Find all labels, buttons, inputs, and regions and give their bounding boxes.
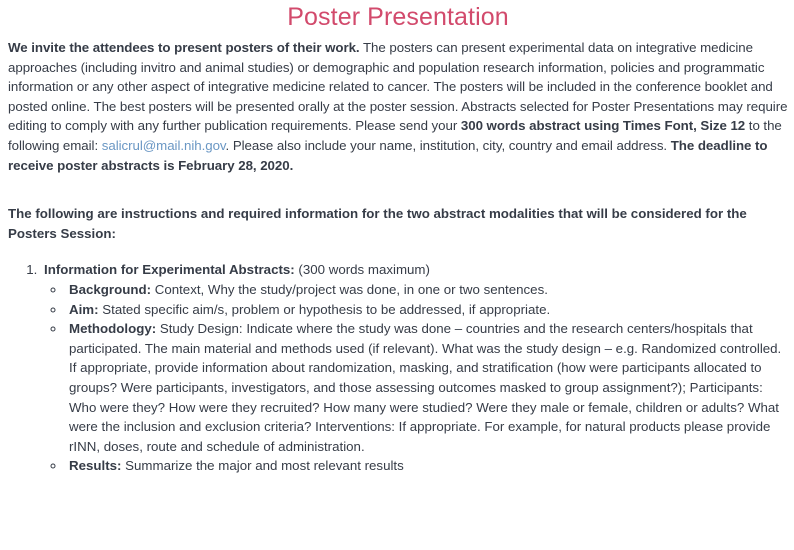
page-title: Poster Presentation [8,2,788,32]
intro-bold-lead: We invite the attendees to present poste… [8,40,360,55]
email-link[interactable]: salicrul@mail.nih.gov [102,138,226,153]
bullet-label-methodology: Methodology: [69,321,156,336]
poster-presentation-page: Poster Presentation We invite the attend… [0,2,794,550]
numbered-item-label: Information for Experimental Abstracts: [44,262,295,277]
list-item: Information for Experimental Abstracts: … [41,260,788,476]
experimental-abstract-bullets: Background: Context, Why the study/proje… [44,280,788,476]
intro-body-3: . Please also include your name, institu… [226,138,671,153]
section-spacer [8,175,788,204]
bullet-text-methodology: Study Design: Indicate where the study w… [69,321,781,454]
abstract-modalities-list: Information for Experimental Abstracts: … [8,260,788,476]
bullet-label-aim: Aim: [69,302,99,317]
intro-bold-format-requirement: 300 words abstract using Times Font, Siz… [461,118,745,133]
list-item: Aim: Stated specific aim/s, problem or h… [66,300,788,320]
instructions-paragraph: The following are instructions and requi… [8,204,788,243]
list-spacer [8,243,788,260]
bullet-label-background: Background: [69,282,151,297]
list-item: Background: Context, Why the study/proje… [66,280,788,300]
list-item: Methodology: Study Design: Indicate wher… [66,319,788,456]
intro-paragraph: We invite the attendees to present poste… [8,38,788,175]
bullet-label-results: Results: [69,458,121,473]
list-item: Results: Summarize the major and most re… [66,456,788,476]
bullet-text-aim: Stated specific aim/s, problem or hypoth… [99,302,551,317]
numbered-item-note: (300 words maximum) [295,262,430,277]
bullet-text-results: Summarize the major and most relevant re… [121,458,403,473]
bullet-text-background: Context, Why the study/project was done,… [151,282,548,297]
